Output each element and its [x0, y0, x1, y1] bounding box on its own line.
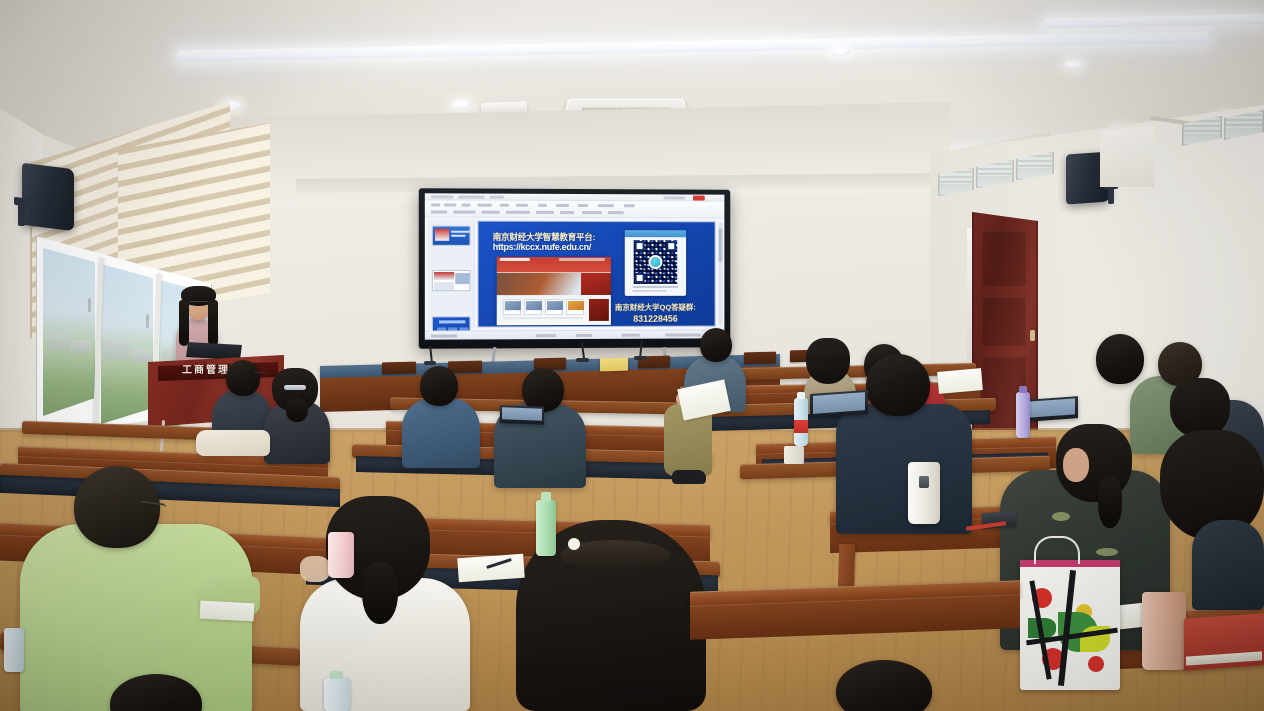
paper-cup: [784, 446, 804, 464]
microphone-base: [634, 356, 647, 360]
attendee-hair: [1170, 378, 1230, 438]
screen-display: 南京财经大学智慧教育平台: https://kccx.nufe.edu.cn/: [425, 193, 725, 339]
qr-code-image: [634, 240, 677, 284]
water-bottle: [794, 398, 808, 446]
attendee-neck: [300, 556, 330, 582]
microphone-base: [424, 361, 436, 365]
nameplate: [382, 362, 416, 375]
shoe: [672, 470, 706, 484]
attendee-body: [1192, 520, 1264, 610]
ponytail: [362, 562, 398, 624]
water-bottle: [536, 500, 556, 556]
qr-code-card: [625, 230, 686, 296]
water-bottle: [4, 628, 24, 672]
presenter-hair-strand: [208, 300, 218, 346]
downlight-icon: [830, 47, 850, 56]
record-button[interactable]: [693, 196, 705, 201]
laptop: [1026, 396, 1078, 422]
downlight-icon: [452, 100, 471, 109]
attendee-head: [866, 354, 930, 416]
speaker-bracket: [18, 204, 25, 226]
attendee-head: [1096, 334, 1144, 384]
current-slide: 南京财经大学智慧教育平台: https://kccx.nufe.edu.cn/: [478, 221, 716, 328]
eraser: [568, 538, 580, 550]
ppt-workspace: 南京财经大学智慧教育平台: https://kccx.nufe.edu.cn/: [425, 218, 725, 331]
qq-group-number: 831228456: [597, 314, 714, 325]
nameplate: [744, 352, 776, 365]
ppt-status-bar: [425, 329, 725, 339]
hair-clip: [284, 385, 306, 390]
speaker-bracket: [1108, 186, 1114, 204]
handout-paper: [200, 601, 255, 622]
slide-platform-url: https://kccx.nufe.edu.cn/: [493, 242, 591, 252]
qq-group-label: 南京财经大学QQ答疑群:: [597, 304, 714, 313]
thermos: [328, 532, 354, 578]
attendee-body: [402, 398, 480, 468]
attendee-head: [700, 328, 732, 362]
slide-thumbnail[interactable]: [432, 226, 471, 246]
thermos: [908, 462, 940, 524]
website-screenshot: [497, 257, 611, 325]
door-handle[interactable]: [1030, 330, 1035, 341]
attendee-face: [1063, 448, 1089, 482]
microphone-base: [576, 358, 589, 362]
laptop: [500, 405, 544, 425]
water-bottle: [324, 678, 350, 711]
vertical-scrollbar[interactable]: [719, 222, 723, 325]
thermos: [1142, 592, 1186, 670]
laptop: [810, 390, 868, 418]
window-handle[interactable]: [146, 314, 149, 328]
wall-speaker-left: [22, 163, 74, 231]
window-pane: [43, 248, 95, 416]
tissue-box: [600, 358, 628, 372]
downlight-icon: [1064, 60, 1083, 69]
attendee-head: [226, 360, 260, 396]
qr-card-header: [625, 230, 686, 237]
ponytail: [1098, 476, 1122, 528]
tote-bag: [1020, 560, 1120, 690]
glasses-icon: [189, 301, 208, 305]
tote-bag-handle: [1034, 536, 1080, 564]
water-bottle: [1016, 392, 1030, 438]
red-book: [1184, 613, 1264, 671]
jacket-on-bench: [196, 430, 270, 456]
handout-paper: [937, 368, 983, 394]
nameplate: [448, 361, 482, 374]
lecture-hall-photo: 南京财经大学智慧教育平台: https://kccx.nufe.edu.cn/: [0, 0, 1264, 711]
attendee-hair: [806, 338, 850, 384]
presenter-laptop: [186, 342, 242, 360]
handout-paper: [457, 554, 525, 583]
wall-pillar: [1100, 125, 1154, 187]
window-handle[interactable]: [88, 298, 91, 312]
ponytail: [286, 398, 308, 422]
attendee-body: [836, 404, 972, 534]
slide-thumbnail-panel[interactable]: [428, 220, 475, 329]
projection-screen[interactable]: 南京财经大学智慧教育平台: https://kccx.nufe.edu.cn/: [419, 188, 731, 349]
window-pane: [101, 264, 153, 424]
presenter-hair-strand: [179, 300, 189, 346]
ppt-ribbon: [425, 200, 725, 218]
attendee-head: [420, 366, 458, 406]
slide-thumbnail[interactable]: [432, 270, 471, 291]
